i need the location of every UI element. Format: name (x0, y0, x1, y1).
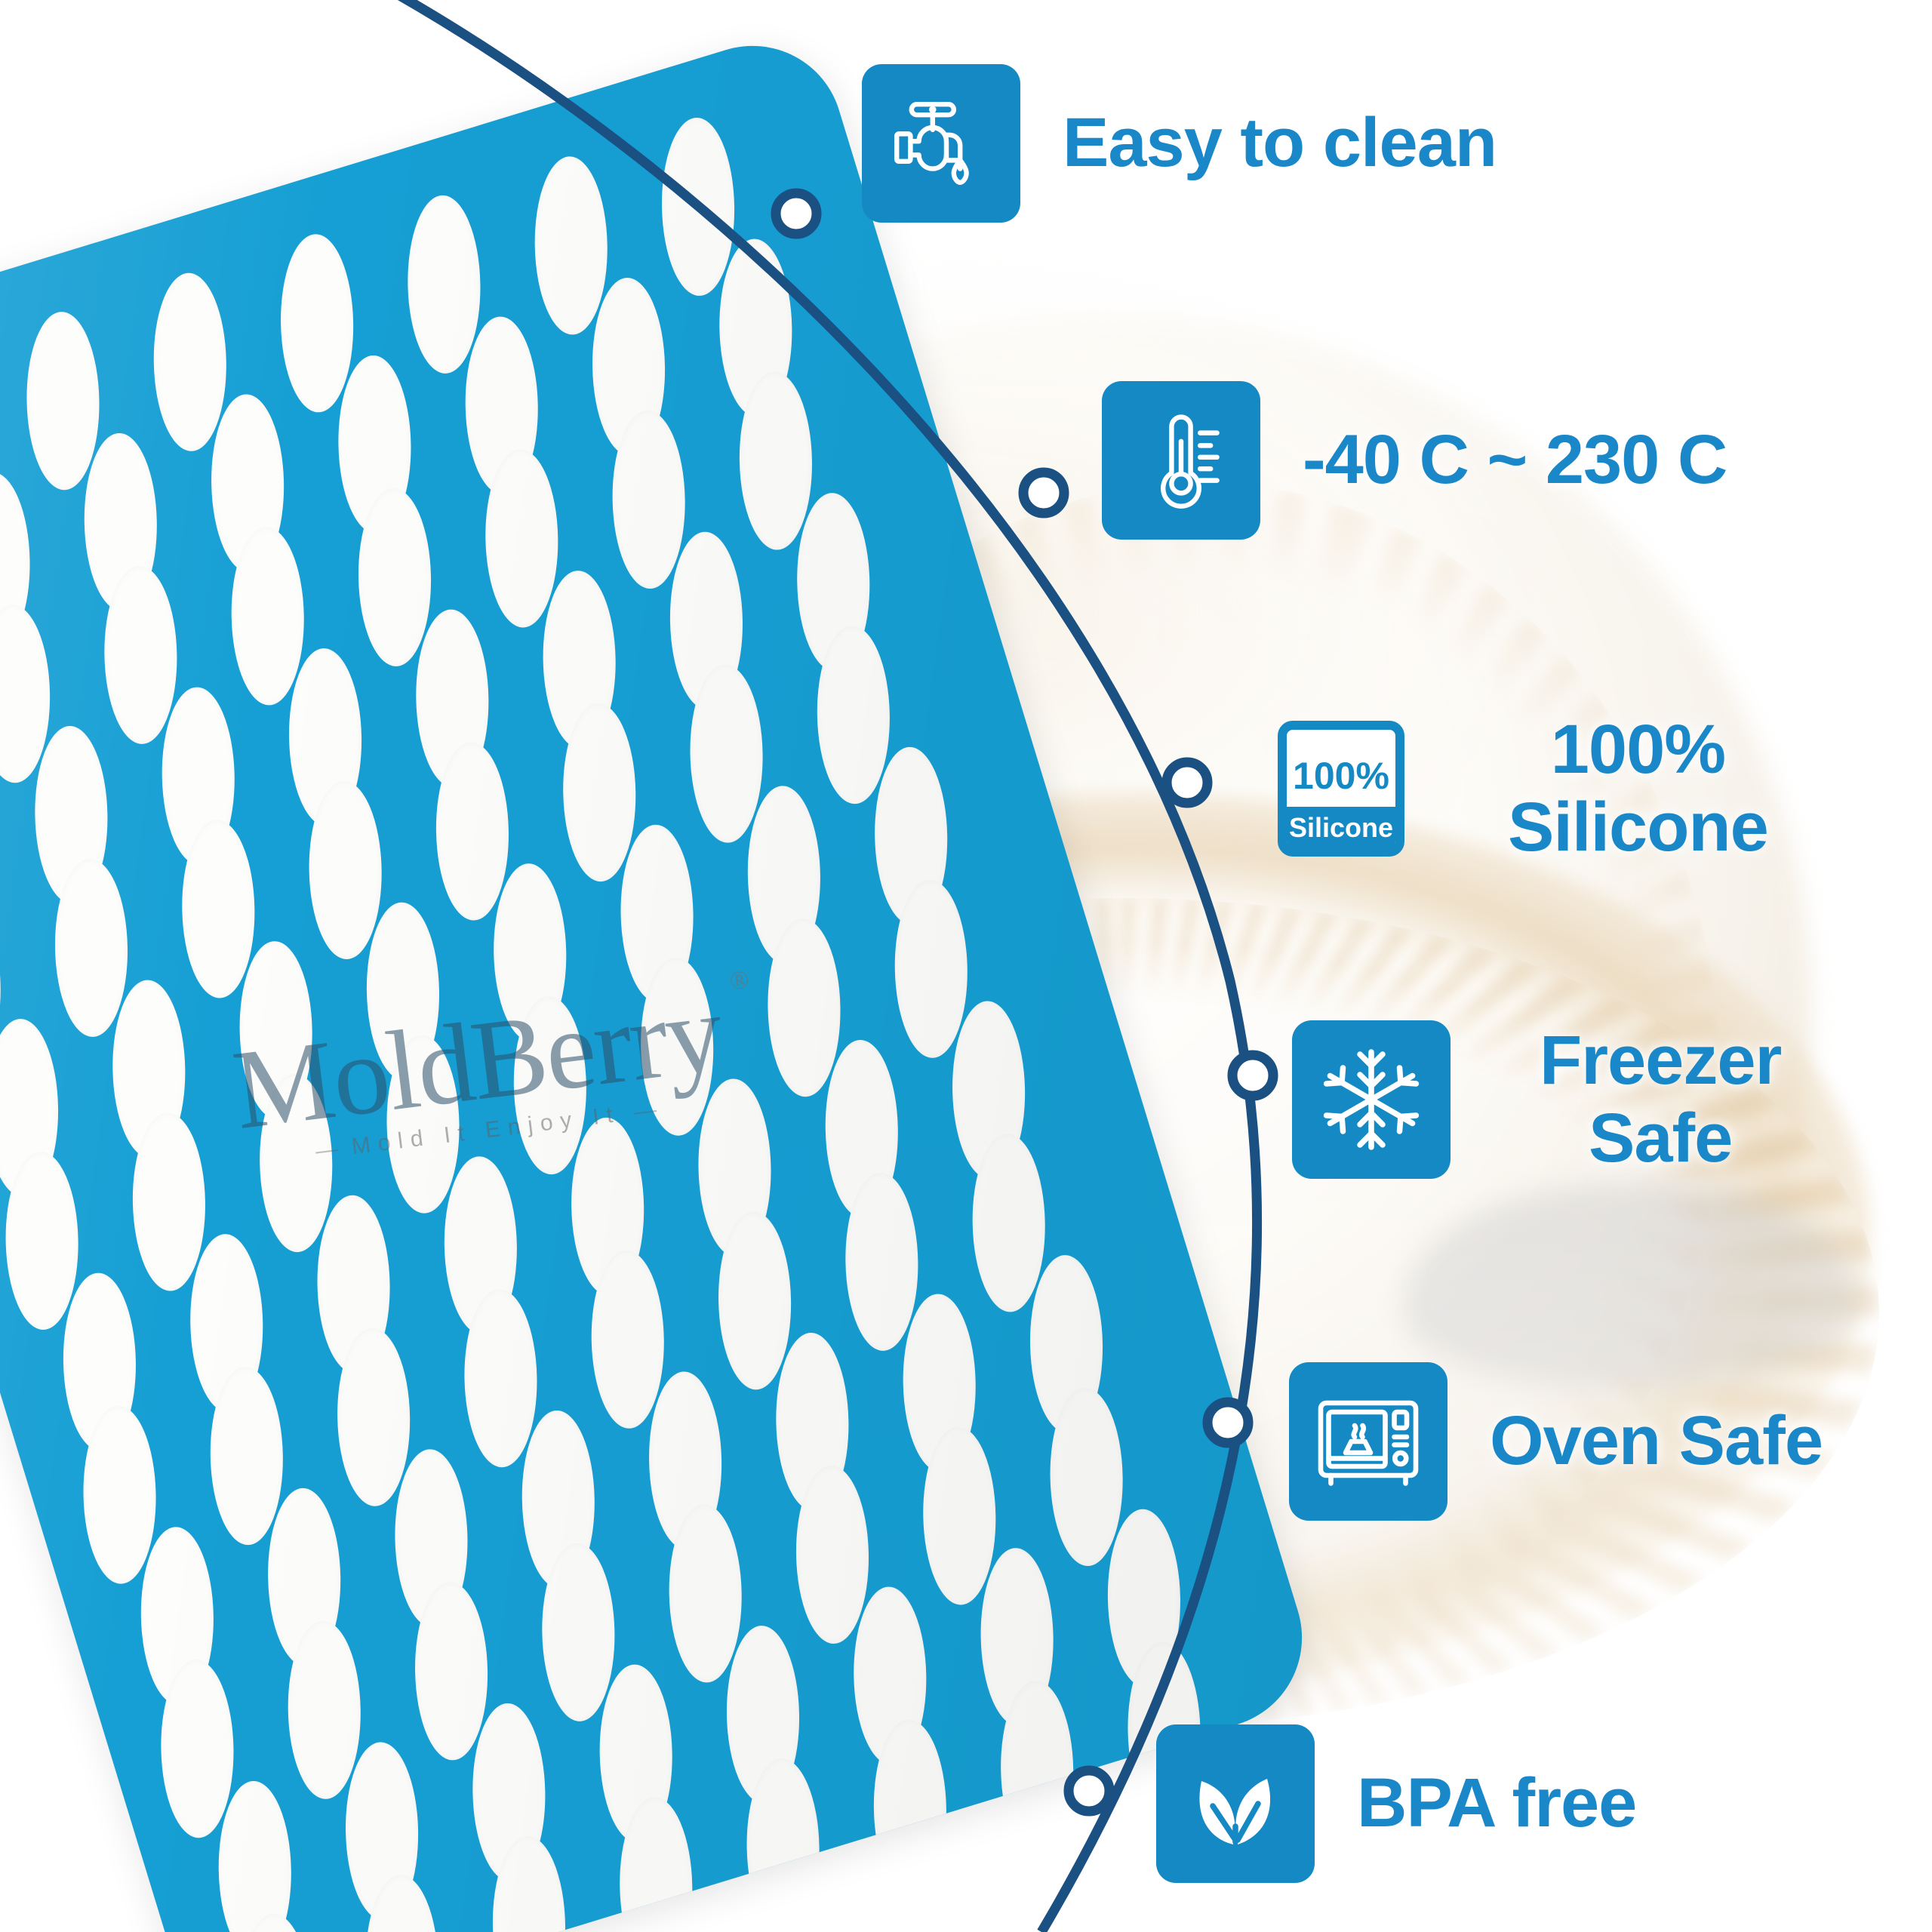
mat-hole (540, 1543, 616, 1722)
feature-label: Freezer Safe (1540, 1022, 1781, 1177)
mat-hole (717, 1211, 792, 1391)
mat-hole (152, 272, 228, 452)
feature-temperature-range: -40 C ~ 230 C (1102, 381, 1727, 540)
mat-hole (688, 664, 764, 844)
oven-glyph (1312, 1385, 1425, 1498)
badge-top-text: 100% (1293, 755, 1389, 797)
silicone-badge-glyph: 100% Silicone (1266, 713, 1417, 864)
mat-hole (217, 1780, 293, 1932)
mat-hole (463, 1288, 538, 1468)
mat-hole (668, 1504, 743, 1684)
mat-hole (385, 1035, 460, 1214)
faucet-glyph (888, 91, 994, 196)
mat-hole (484, 449, 559, 629)
mat-hole (414, 1582, 489, 1761)
thermometer-icon (1102, 381, 1260, 540)
mat-hole (844, 1172, 919, 1352)
mat-hole (336, 1327, 411, 1507)
leaves-icon (1156, 1724, 1315, 1883)
mat-hole (1049, 1387, 1124, 1567)
badge-bottom-text: Silicone (1289, 812, 1393, 843)
snowflake-icon (1292, 1020, 1451, 1179)
leaves-glyph (1179, 1747, 1292, 1860)
mat-hole (795, 1465, 870, 1644)
feature-label: BPA free (1357, 1768, 1636, 1839)
mat-hole (308, 780, 383, 960)
mat-hole (159, 1659, 235, 1838)
feature-freezer-safe: Freezer Safe (1292, 1020, 1781, 1179)
mat-hole (357, 488, 432, 667)
product-infographic: MoldBerry ® — Mold It Enjoy It — (0, 0, 1932, 1932)
mat-hole (406, 195, 481, 374)
mat-hole (435, 742, 510, 921)
feature-oven-safe: Oven Safe (1289, 1362, 1823, 1521)
silicone-badge-icon: 100% Silicone (1262, 709, 1420, 868)
mat-hole (287, 1620, 362, 1800)
mat-hole (561, 703, 637, 882)
mat-hole (534, 156, 609, 336)
mat-hole (180, 820, 256, 999)
feature-bpa-free: BPA free (1156, 1724, 1636, 1883)
thermometer-glyph (1128, 408, 1234, 513)
mat-hole (131, 1112, 207, 1292)
mat-hole (766, 918, 841, 1097)
feature-label: -40 C ~ 230 C (1303, 425, 1727, 496)
mat-hole (279, 233, 355, 413)
mat-hole (816, 625, 891, 804)
feature-label: Easy to clean (1063, 108, 1497, 179)
faucet-icon (862, 64, 1020, 223)
mat-hole (103, 565, 178, 745)
mat-hole (639, 957, 715, 1137)
mat-hole (660, 117, 736, 297)
oven-icon (1289, 1362, 1447, 1521)
mat-hole (512, 995, 588, 1175)
mat-hole (894, 879, 969, 1059)
mat-hole (54, 858, 129, 1038)
mat-hole (82, 1405, 157, 1585)
feature-100-percent-silicone: 100% Silicone 100% Silicone (1262, 709, 1768, 868)
mat-hole (230, 527, 306, 706)
mat-hole (971, 1134, 1047, 1313)
feature-easy-to-clean: Easy to clean (862, 64, 1497, 223)
mat-hole (611, 410, 687, 589)
feature-label: 100% Silicone (1508, 711, 1768, 866)
mat-hole (921, 1426, 997, 1606)
mat-hole (5, 1151, 80, 1331)
mat-hole (258, 1073, 334, 1253)
mat-hole (209, 1366, 285, 1546)
snowflake-glyph (1315, 1043, 1428, 1156)
mat-hole (590, 1250, 666, 1429)
feature-label: Oven Safe (1490, 1406, 1823, 1477)
mat-hole (738, 371, 814, 551)
mat-hole (25, 311, 100, 491)
